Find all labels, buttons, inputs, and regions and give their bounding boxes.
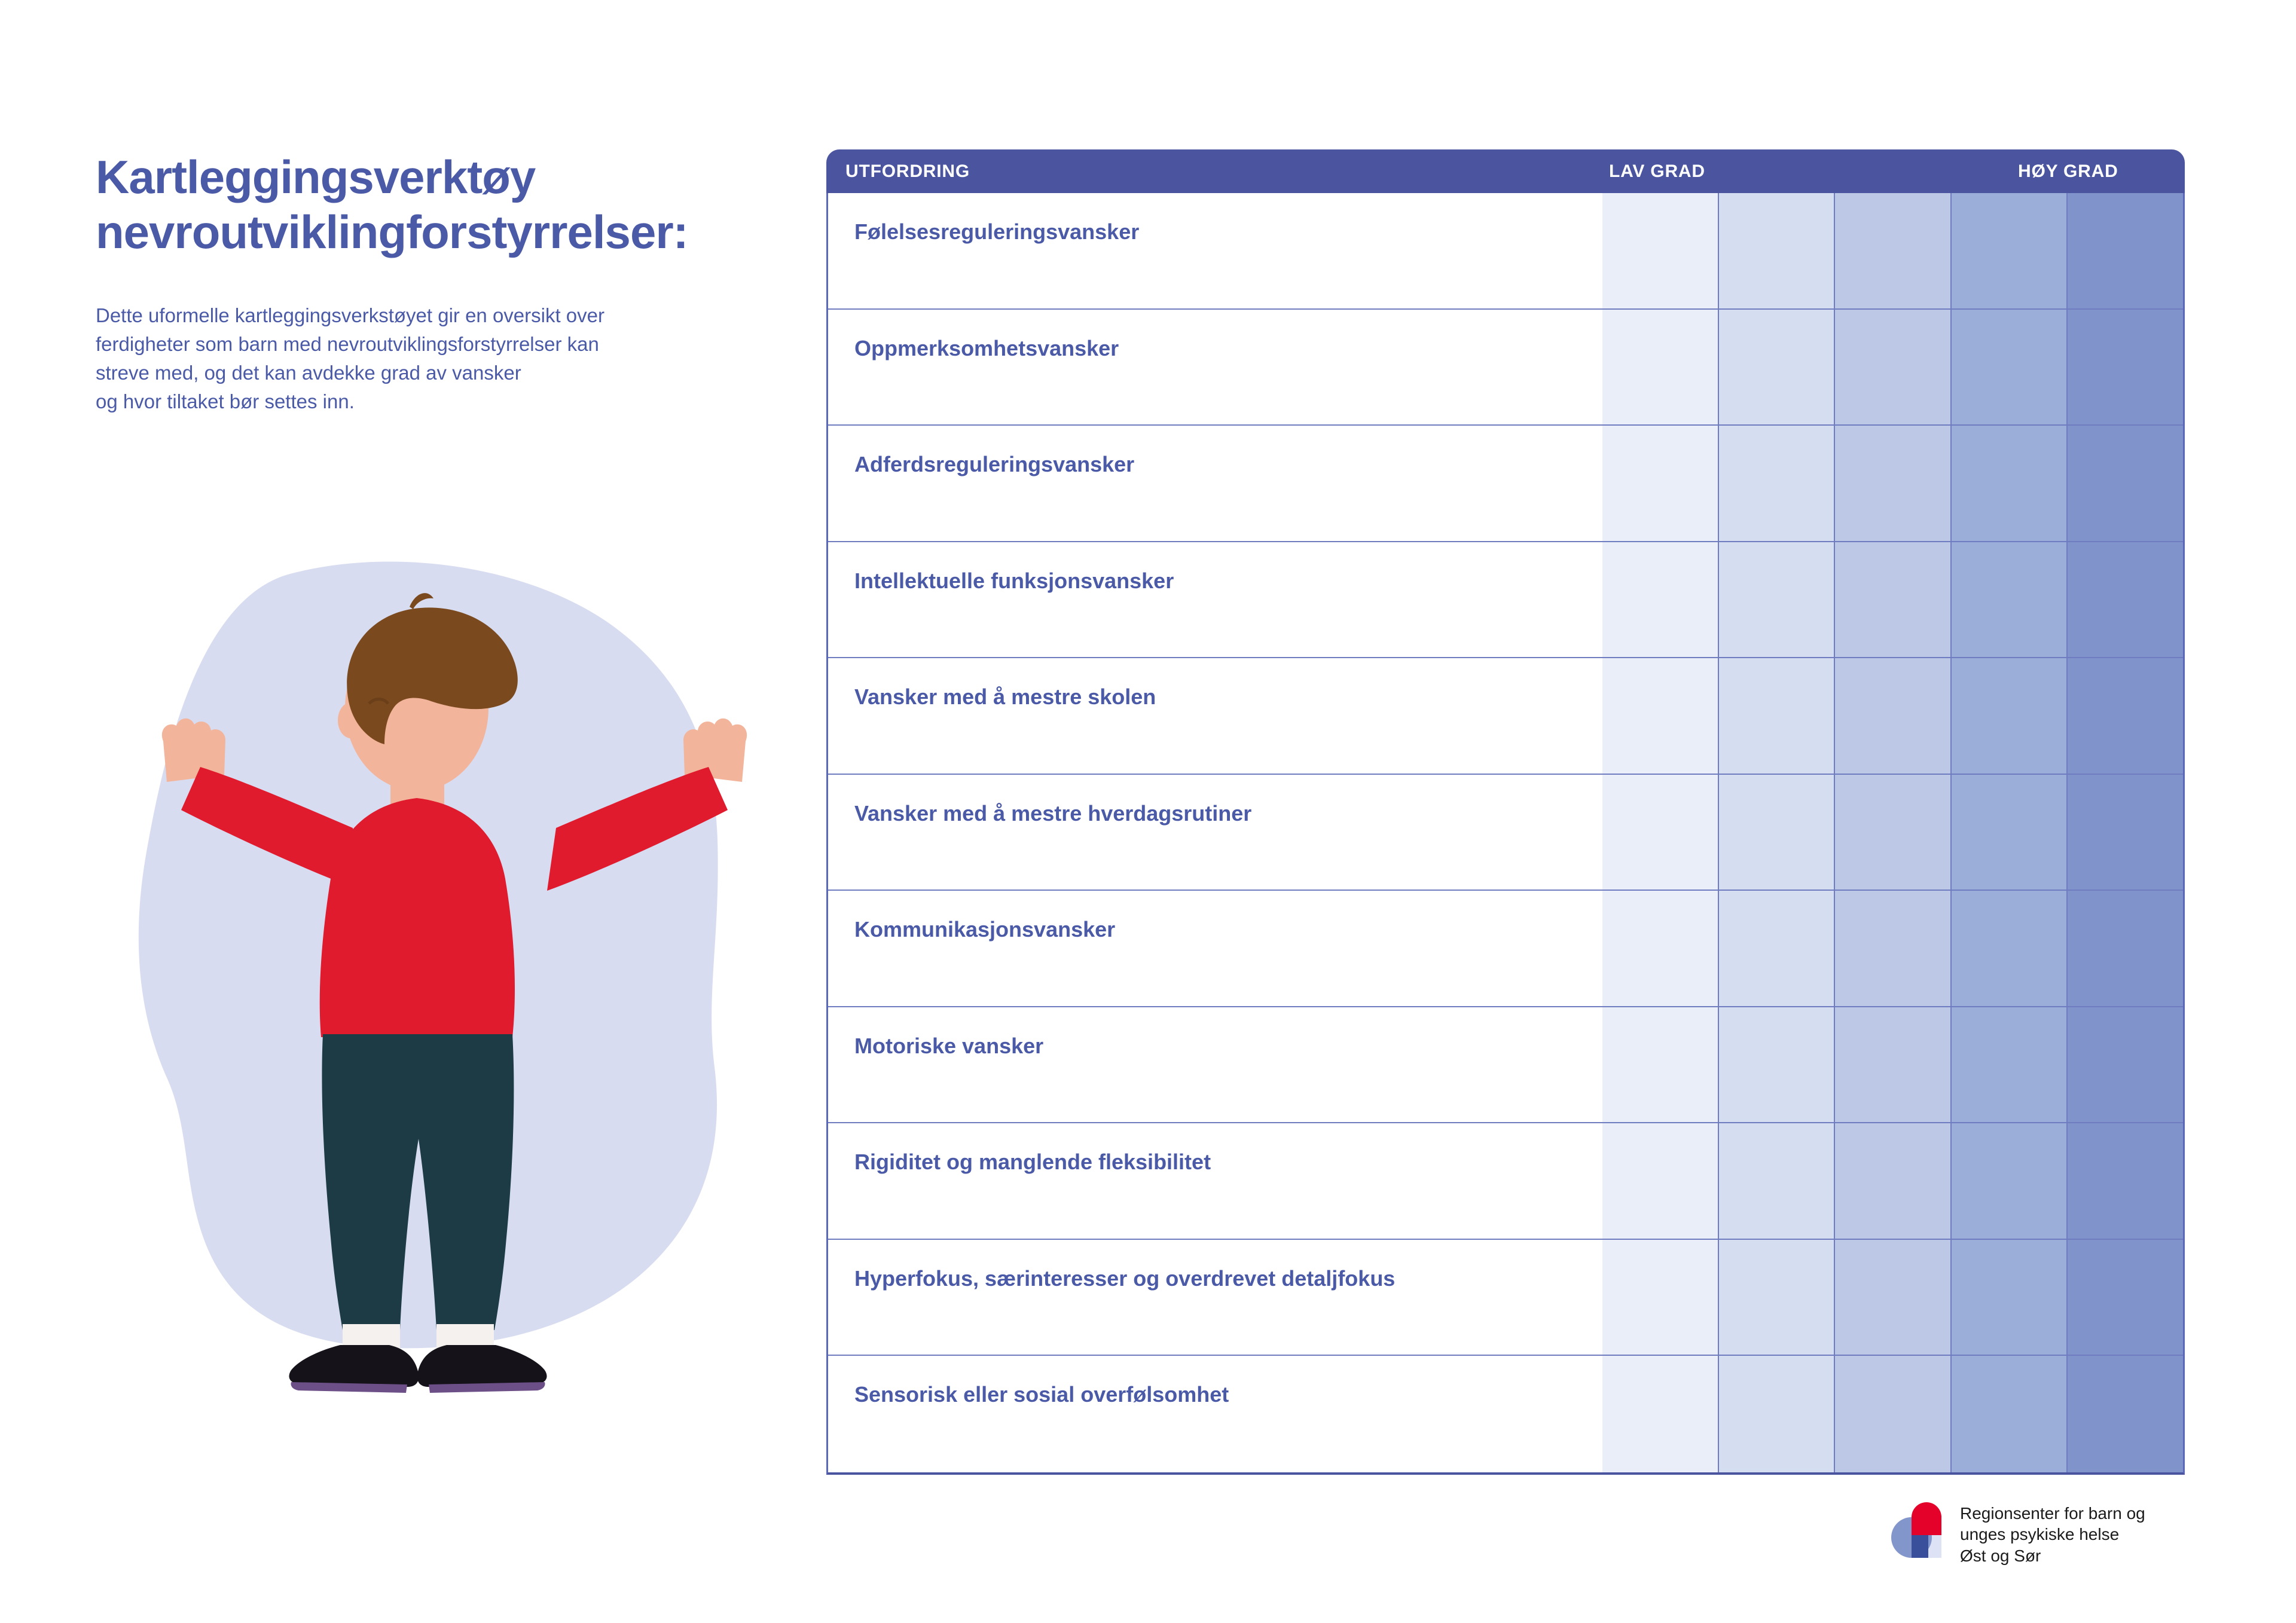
intro-line-1: Dette uformelle kartleggingsverkstøyet g… [96,301,771,330]
table-row[interactable]: Adferdsreguleringsvansker [828,426,2183,542]
row-label: Følelsesreguleringsvansker [854,219,1139,244]
column-header-high-degree: HØY GRAD [2018,161,2118,182]
table-row[interactable]: Hyperfokus, særinteresser og overdrevet … [828,1240,2183,1356]
row-label: Intellektuelle funksjonsvansker [854,568,1174,594]
table-row[interactable]: Sensorisk eller sosial overfølsomhet [828,1356,2183,1472]
matrix-body: Følelsesreguleringsvansker Oppmerksomhet… [826,193,2185,1475]
intro-line-4: og hvor tiltaket bør settes inn. [96,387,771,416]
row-label: Rigiditet og manglende fleksibilitet [854,1150,1211,1175]
table-row[interactable]: Intellektuelle funksjonsvansker [828,542,2183,659]
column-header-low-degree: LAV GRAD [1609,161,1705,182]
intro-paragraph: Dette uformelle kartleggingsverkstøyet g… [96,301,771,415]
table-row[interactable]: Motoriske vansker [828,1007,2183,1124]
logo-line-2: unges psykiske helse [1960,1524,2145,1545]
table-row[interactable]: Vansker med å mestre skolen [828,658,2183,775]
matrix-header-row: UTFORDRING LAV GRAD HØY GRAD [826,149,2185,193]
row-label: Adferdsreguleringsvansker [854,452,1134,477]
page-title-line-1: Kartleggingsverktøy [96,149,789,204]
row-label: Kommunikasjonsvansker [854,917,1115,942]
worksheet-page: Kartleggingsverktøy nevroutviklingforsty… [0,0,2296,1623]
right-shoe [417,1345,547,1387]
row-label: Sensorisk eller sosial overfølsomhet [854,1382,1229,1407]
table-row[interactable]: Oppmerksomhetsvansker [828,310,2183,426]
table-row[interactable]: Rigiditet og manglende fleksibilitet [828,1123,2183,1240]
page-title-line-2: nevroutviklingforstyrrelser: [96,204,789,259]
table-row[interactable]: Kommunikasjonsvansker [828,891,2183,1007]
table-row[interactable]: Følelsesreguleringsvansker [828,193,2183,310]
row-label: Vansker med å mestre hverdagsrutiner [854,801,1251,826]
row-label: Motoriske vansker [854,1034,1043,1059]
column-header-challenge: UTFORDRING [845,161,970,182]
logo-line-1: Regionsenter for barn og [1960,1503,2145,1524]
table-row[interactable]: Vansker med å mestre hverdagsrutiner [828,775,2183,891]
intro-line-3: streve med, og det kan avdekke grad av v… [96,359,771,387]
row-label: Oppmerksomhetsvansker [854,336,1119,361]
child-illustration [111,541,798,1396]
intro-column: Kartleggingsverktøy nevroutviklingforsty… [96,149,771,415]
row-label: Hyperfokus, særinteresser og overdrevet … [854,1266,1395,1291]
assessment-matrix: UTFORDRING LAV GRAD HØY GRAD Følelsesreg… [826,149,2185,1475]
row-label: Vansker med å mestre skolen [854,684,1156,710]
rbup-logo-icon [1885,1498,1947,1560]
intro-line-2: ferdigheter som barn med nevroutviklings… [96,330,771,359]
logo-text: Regionsenter for barn og unges psykiske … [1960,1498,2145,1566]
left-shoe [289,1345,419,1387]
page-title: Kartleggingsverktøy nevroutviklingforsty… [96,149,789,259]
organisation-logo: Regionsenter for barn og unges psykiske … [1885,1498,2145,1566]
logo-line-3: Øst og Sør [1960,1545,2145,1566]
